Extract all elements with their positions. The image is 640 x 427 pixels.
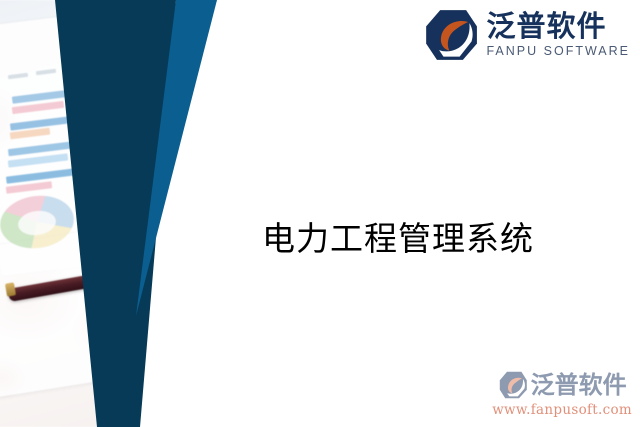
brand-name-en: FANPU SOFTWARE — [486, 44, 630, 59]
presentation-slide: 泛普软件 FANPU SOFTWARE 电力工程管理系统 泛普软件 www.fa… — [0, 0, 640, 427]
left-decoration-panel — [0, 0, 220, 427]
brand-name-cn: 泛普软件 — [486, 11, 630, 41]
page-title: 电力工程管理系统 — [262, 212, 534, 260]
watermark-brand-row: 泛普软件 — [498, 370, 627, 400]
watermark-brand-name: 泛普软件 — [531, 373, 627, 397]
brand-logo-text: 泛普软件 FANPU SOFTWARE — [486, 11, 630, 58]
footer-watermark: 泛普软件 www.fanpusoft.com — [492, 370, 632, 418]
fanpu-watermark-logo-icon — [498, 370, 528, 400]
watermark-url: www.fanpusoft.com — [492, 402, 632, 418]
brand-logo: 泛普软件 FANPU SOFTWARE — [424, 8, 630, 62]
fanpu-hexagon-logo-icon — [424, 8, 478, 62]
